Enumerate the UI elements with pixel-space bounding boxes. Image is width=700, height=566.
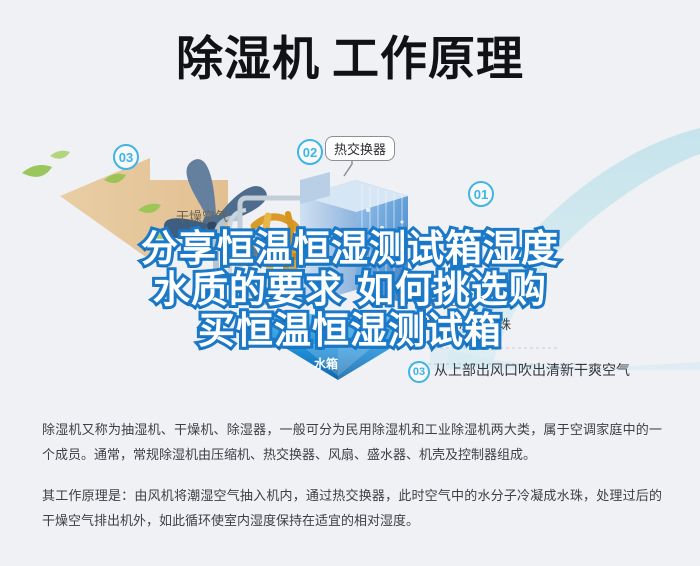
- label-water-tank: 水箱: [314, 355, 338, 372]
- dehumidifier-diagram: 03 02 01 03 热交换器 干燥空气 潮湿空气 水箱 发器冷凝成水珠 从上…: [0, 118, 700, 408]
- diagram-badge-03-left: 03: [113, 144, 139, 170]
- article-page: 除湿机工作原理: [0, 0, 700, 566]
- label-condensation: 发器冷凝成水珠: [420, 314, 511, 333]
- diagram-badge-01: 01: [468, 181, 494, 207]
- label-air-outlet: 从上部出风口吹出清新干爽空气: [434, 360, 630, 380]
- diagram-badge-03-bottom: 03: [408, 361, 430, 383]
- label-humid-air: 潮湿空气: [420, 290, 472, 309]
- heat-exchanger-block: [300, 172, 408, 306]
- body-paragraph-1: 除湿机又称为抽湿机、干燥机、除湿器，一般可分为民用除湿机和工业除湿机两大类，属于…: [42, 418, 662, 468]
- page-title: 除湿机工作原理: [0, 0, 700, 118]
- page-title-text: 除湿机工作原理: [176, 36, 524, 83]
- label-dry-air: 干燥空气: [176, 206, 228, 225]
- body-paragraph-2: 其工作原理是：由风机将潮湿空气抽入机内，通过热交换器，此时空气中的水分子冷凝成水…: [42, 484, 662, 534]
- callout-heat-exchanger: 热交换器: [325, 136, 395, 161]
- title-part-1: 除湿机: [176, 32, 320, 87]
- article-body: 除湿机又称为抽湿机、干燥机、除湿器，一般可分为民用除湿机和工业除湿机两大类，属于…: [42, 418, 662, 540]
- diagram-badge-02: 02: [297, 139, 323, 165]
- title-part-2: 工作原理: [332, 32, 524, 87]
